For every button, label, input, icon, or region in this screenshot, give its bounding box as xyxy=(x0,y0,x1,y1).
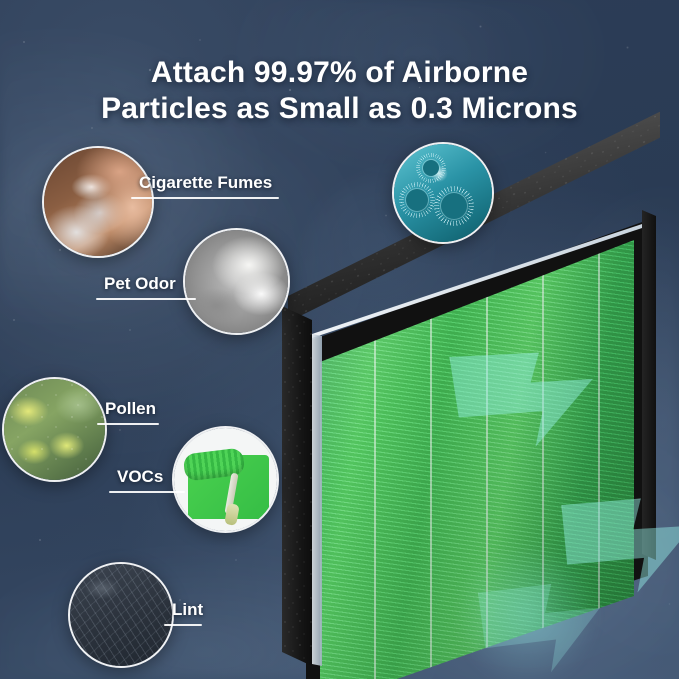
headline: Attach 99.97% of Airborne Particles as S… xyxy=(0,55,679,127)
callout-rule-vocs xyxy=(109,491,185,493)
pollen-icon xyxy=(4,379,105,480)
callout-circle-pollen xyxy=(2,377,107,482)
promo-image-root: Attach 99.97% of Airborne Particles as S… xyxy=(0,0,679,679)
microbe-large xyxy=(441,193,467,219)
callout-rule-pollen xyxy=(97,423,159,425)
lint-icon xyxy=(70,564,172,666)
vocs-icon xyxy=(174,428,277,531)
callout-rule-cigarette-fumes xyxy=(131,197,279,199)
headline-line-1: Attach 99.97% of Airborne xyxy=(151,56,528,89)
callout-label-vocs: VOCs xyxy=(117,467,163,487)
callout-label-pet-odor: Pet Odor xyxy=(104,274,176,294)
germs-icon xyxy=(394,144,492,242)
callout-circle-cigarette-fumes xyxy=(42,146,154,258)
microbe-small xyxy=(423,160,439,176)
pet-odor-icon xyxy=(185,230,288,333)
roller-grip xyxy=(224,503,240,525)
callout-label-pollen: Pollen xyxy=(105,399,156,419)
headline-line-2: Particles as Small as 0.3 Microns xyxy=(52,91,627,127)
callout-label-lint: Lint xyxy=(172,600,203,620)
foam-texture-side xyxy=(282,306,312,666)
callout-rule-pet-odor xyxy=(96,298,196,300)
filter-left-highlight xyxy=(312,334,322,674)
callout-circle-pet-odor xyxy=(183,228,290,335)
callout-label-cigarette-fumes: Cigarette Fumes xyxy=(139,173,272,193)
callout-circle-vocs xyxy=(172,426,279,533)
filter-right-edge xyxy=(642,210,656,560)
callout-rule-lint xyxy=(164,624,202,626)
filter-frame-left-depth xyxy=(282,306,312,666)
cigarette-fumes-icon xyxy=(44,148,152,256)
callout-circle-germs xyxy=(392,142,494,244)
microbe-medium xyxy=(406,189,428,211)
callout-circle-lint xyxy=(68,562,174,668)
